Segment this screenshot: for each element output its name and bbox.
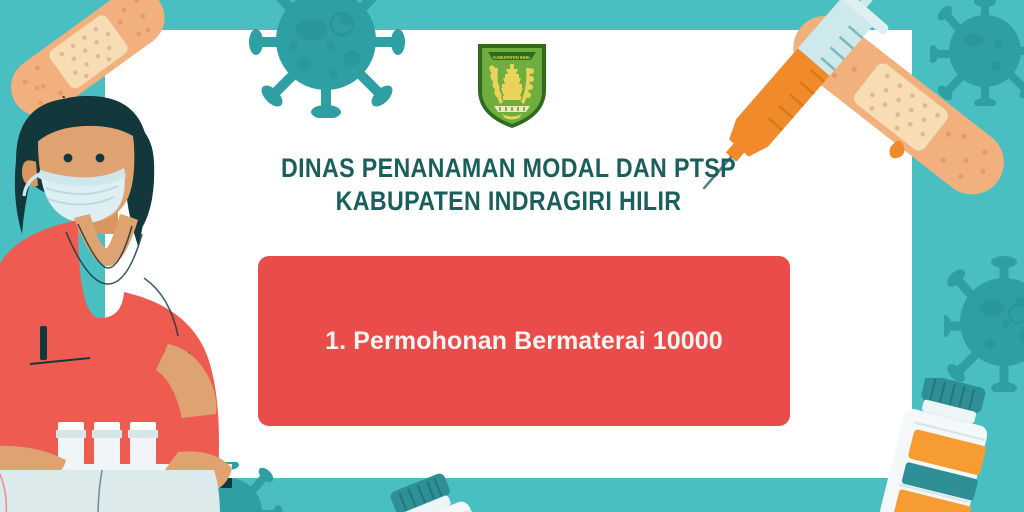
virus-icon <box>236 0 416 118</box>
requirement-banner: 1. Permohonan Bermaterai 10000 <box>258 256 790 426</box>
virus-icon <box>944 252 1024 392</box>
emblem-ribbon-text: KABUPATEN INHIL <box>493 55 531 60</box>
title-line-1: DINAS PENANAMAN MODAL DAN PTSP <box>161 152 855 185</box>
medicine-bottle-icon <box>880 378 1024 512</box>
poster-root: KABUPATEN INHIL <box>0 0 1024 512</box>
indragiri-hilir-emblem: KABUPATEN INHIL <box>472 38 552 130</box>
medicine-bottle-icon <box>388 466 538 512</box>
requirement-banner-text: 1. Permohonan Bermaterai 10000 <box>325 327 723 356</box>
page-title: DINAS PENANAMAN MODAL DAN PTSP KABUPATEN… <box>105 152 912 218</box>
title-line-2: KABUPATEN INDRAGIRI HILIR <box>161 185 855 218</box>
